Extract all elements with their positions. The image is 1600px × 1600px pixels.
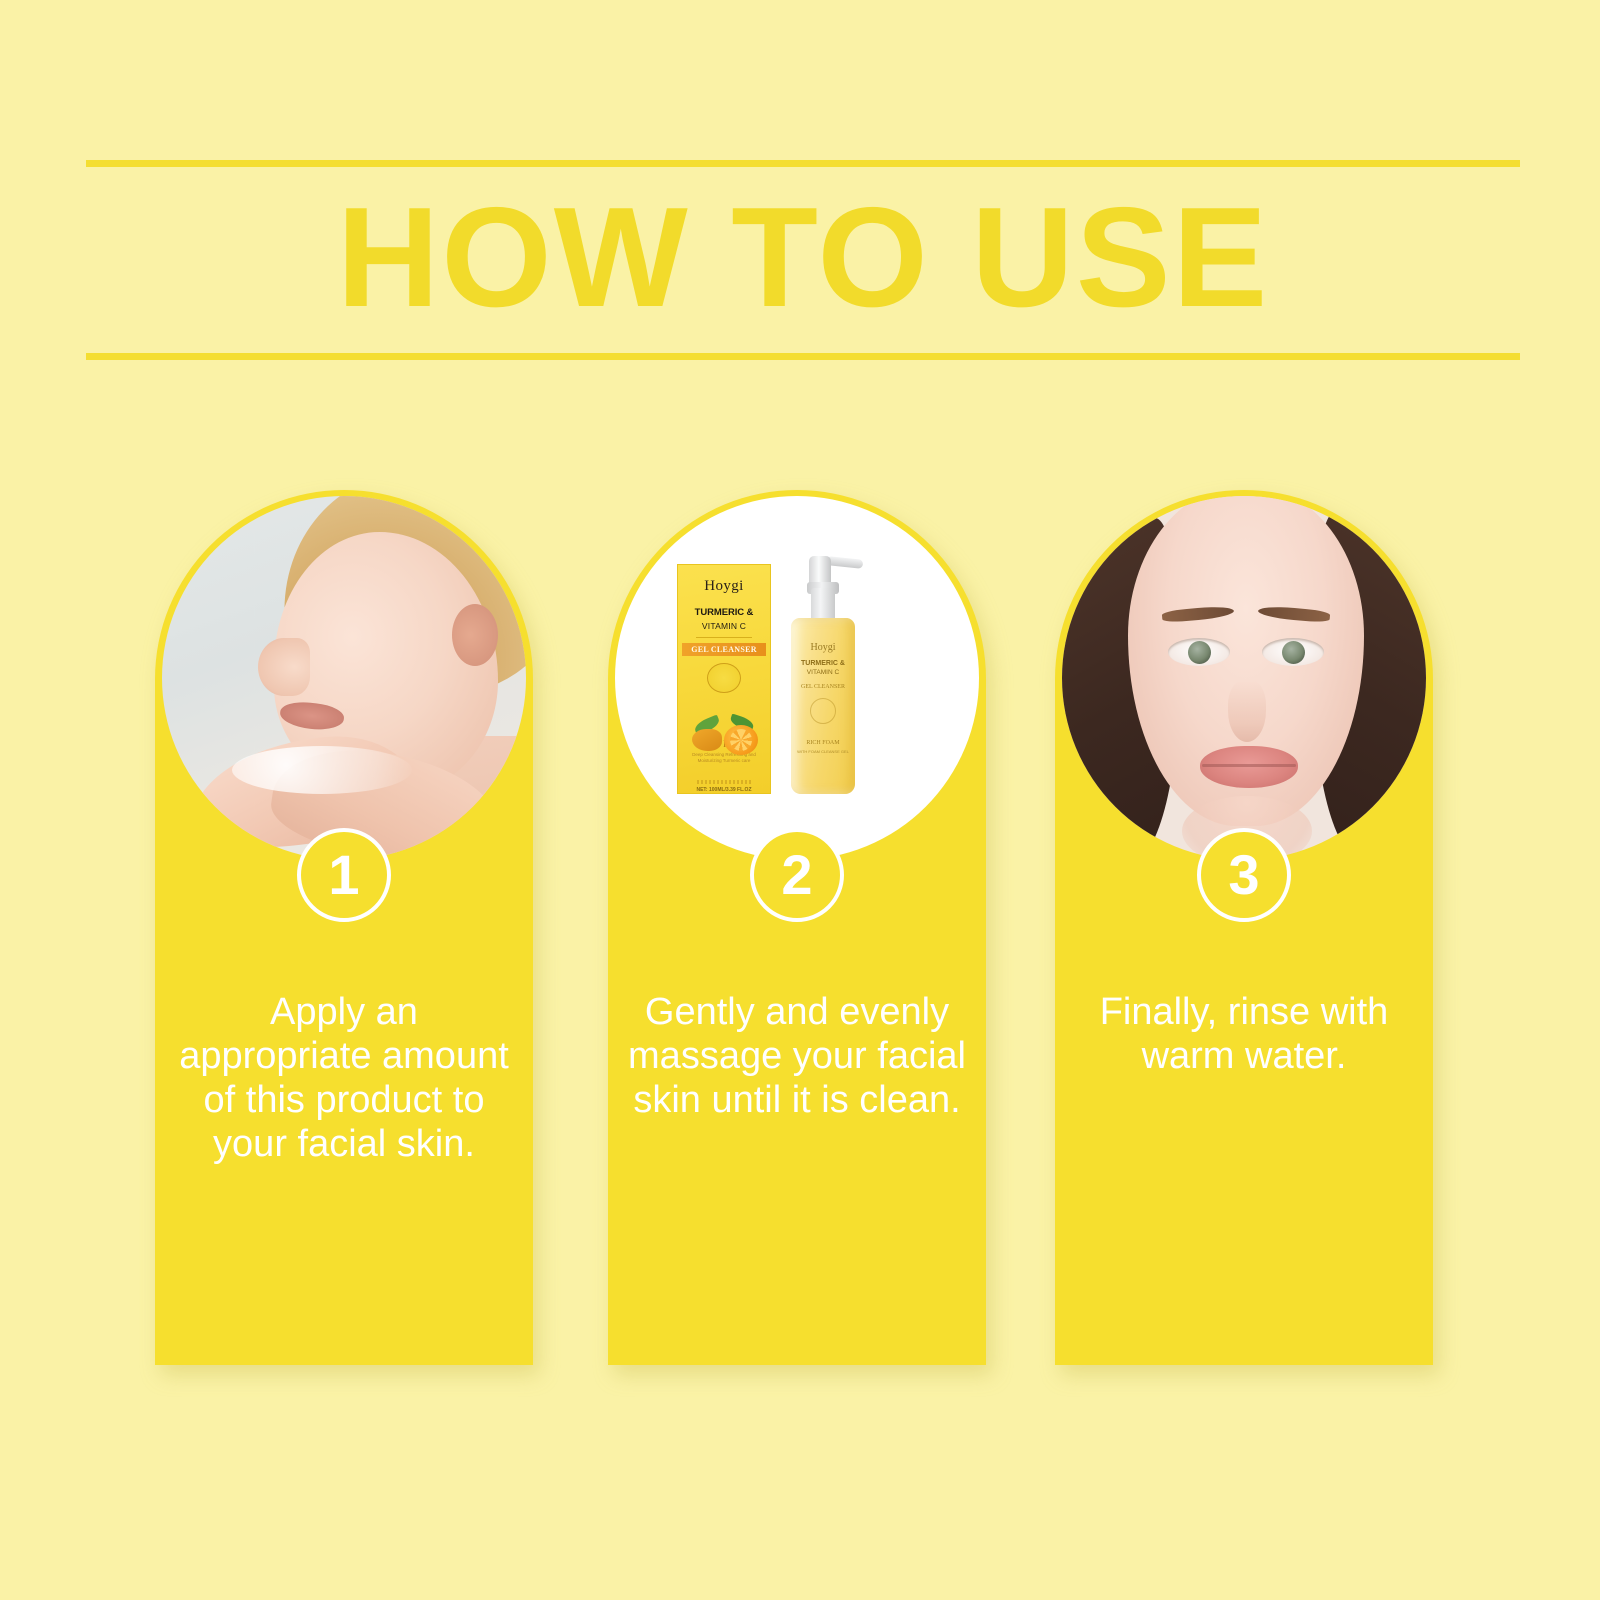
pump-neck-icon: [811, 588, 835, 622]
step-1-caption: Apply an appropriate amount of this prod…: [169, 990, 519, 1166]
step-card-2[interactable]: Hoygi TURMERIC & VITAMIN C GEL CLEANSER: [608, 490, 986, 1365]
product-title-line2: VITAMIN C: [702, 621, 746, 631]
pump-spout-icon: [827, 556, 864, 569]
step-card-2-shape: Hoygi TURMERIC & VITAMIN C GEL CLEANSER: [608, 490, 986, 1365]
bottle-title-line1: TURMERIC &: [801, 660, 845, 667]
product-shot: Hoygi TURMERIC & VITAMIN C GEL CLEANSER: [615, 496, 979, 860]
bottle-type-band: GEL CLEANSER: [801, 684, 845, 690]
steps-container: 1 Apply an appropriate amount of this pr…: [0, 0, 1600, 1600]
step-card-3-shape: 3 Finally, rinse with warm water.: [1055, 490, 1433, 1365]
gentle-formula-seal-icon: [707, 663, 741, 694]
step-2-number-badge: 2: [750, 828, 844, 922]
product-carton: Hoygi TURMERIC & VITAMIN C GEL CLEANSER: [677, 564, 771, 794]
bottle-brand: Hoygi: [811, 642, 836, 653]
product-barcode-dots-icon: [697, 780, 751, 784]
woman-face-closeup-image: [1062, 496, 1426, 860]
step-3-number-badge: 3: [1197, 828, 1291, 922]
woman-splashing-water-image: [162, 496, 526, 860]
step-3-caption: Finally, rinse with warm water.: [1069, 990, 1419, 1078]
product-type-band: GEL CLEANSER: [682, 643, 766, 656]
product-divider: [696, 637, 752, 638]
step-card-1-shape: 1 Apply an appropriate amount of this pr…: [155, 490, 533, 1365]
bottle-title-line2: VITAMIN C: [807, 669, 839, 676]
step-2-caption: Gently and evenly massage your facial sk…: [622, 990, 972, 1122]
product-bottle: Hoygi TURMERIC & VITAMIN C GEL CLEANSER …: [791, 618, 855, 794]
step-3-photo: [1062, 496, 1426, 860]
product-title-line1: TURMERIC &: [695, 607, 754, 618]
step-card-1[interactable]: 1 Apply an appropriate amount of this pr…: [155, 490, 533, 1365]
bottle-subtext: WITH FOAM CLEANSE GEL: [797, 749, 849, 754]
step-1-number-badge: 1: [297, 828, 391, 922]
product-net-content: NET: 100ML/3.39 FL.OZ: [696, 787, 751, 793]
step-2-product-media: Hoygi TURMERIC & VITAMIN C GEL CLEANSER: [615, 496, 979, 860]
product-brand: Hoygi: [704, 578, 744, 595]
bottle-feature: RICH FOAM: [806, 740, 839, 746]
bottle-seal-icon: [810, 698, 836, 724]
step-card-3[interactable]: 3 Finally, rinse with warm water.: [1055, 490, 1433, 1365]
turmeric-orange-illustration-icon: [686, 717, 766, 757]
step-1-photo: [162, 496, 526, 860]
